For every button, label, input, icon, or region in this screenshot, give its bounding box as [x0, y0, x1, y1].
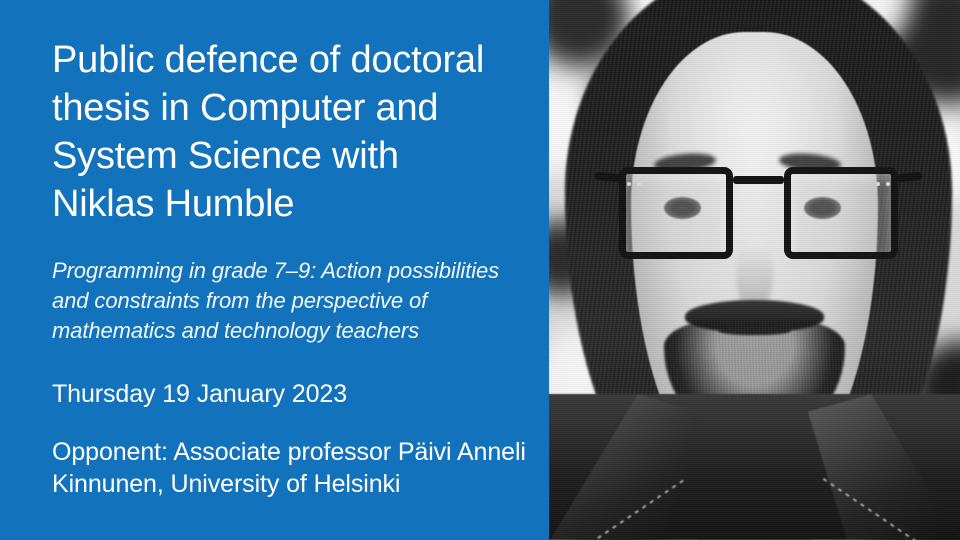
page-title: Public defence of doctoral thesis in Com… — [52, 36, 532, 228]
portrait-subject — [549, 0, 960, 540]
glasses-bridge — [733, 176, 783, 184]
lens-left — [619, 167, 734, 259]
denim-jacket — [549, 394, 960, 540]
event-date: Thursday 19 January 2023 — [52, 378, 532, 410]
portrait-photo — [549, 0, 960, 540]
glasses-rivet — [886, 182, 890, 186]
thesis-title: Programming in grade 7–9: Action possibi… — [52, 256, 527, 346]
text-panel: Public defence of doctoral thesis in Com… — [0, 0, 549, 540]
lens-right — [784, 167, 899, 259]
announcement-slide: Public defence of doctoral thesis in Com… — [0, 0, 960, 540]
opponent-info: Opponent: Associate professor Päivi Anne… — [52, 436, 532, 500]
text-block: Public defence of doctoral thesis in Com… — [52, 36, 532, 500]
